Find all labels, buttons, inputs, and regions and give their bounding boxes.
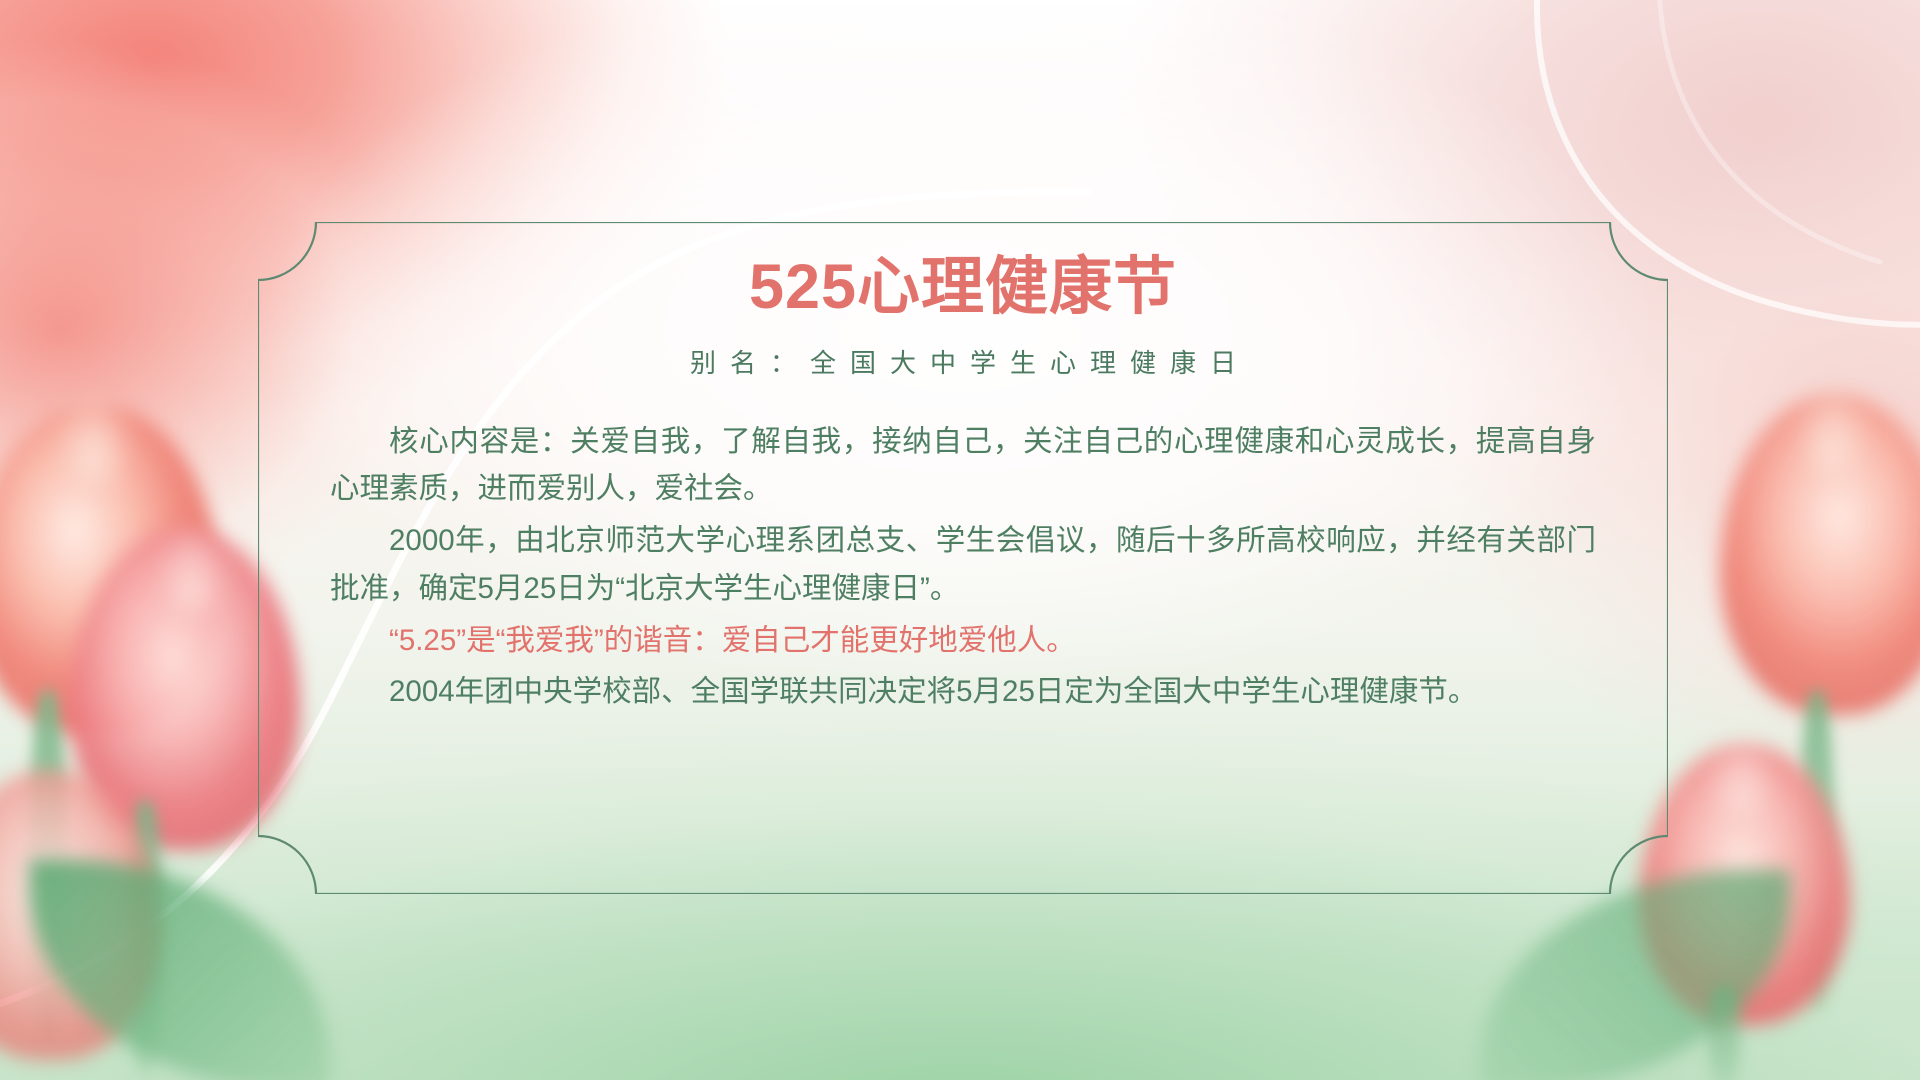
tulip-left-1-petal-notch (58, 395, 128, 485)
page-title: 525心理健康节 (330, 222, 1596, 323)
tulip-right-2 (1640, 745, 1850, 1035)
tulip-right-1 (1720, 395, 1920, 725)
page-subtitle: 别名：全国大中学生心理健康日 (330, 323, 1596, 380)
tulip-left-2-stem-shape (128, 800, 162, 1075)
white-arc-top-right-secondary (1659, 0, 1880, 262)
paragraph-established-2004: 2004年团中央学校部、全国学联共同决定将5月25日定为全国大中学生心理健康节。 (330, 668, 1596, 716)
card-content: 525心理健康节 别名：全国大中学生心理健康日 核心内容是：关爱自我，了解自我，… (258, 222, 1668, 894)
paragraph-homophone-525: “5.25”是“我爱我”的谐音：爱自己才能更好地爱他人。 (330, 617, 1596, 665)
tulip-left-3-bloom (0, 770, 160, 1060)
content-card: 525心理健康节 别名：全国大中学生心理健康日 核心内容是：关爱自我，了解自我，… (258, 222, 1668, 894)
tulip-right-2-stem (1700, 985, 1770, 1080)
tulip-right-2-petal-notch (1712, 741, 1772, 819)
tulip-left-1-bloom (0, 405, 220, 735)
poster-canvas: 525心理健康节 别名：全国大中学生心理健康日 核心内容是：关爱自我，了解自我，… (0, 0, 1920, 1080)
tulip-left-2-stem (120, 800, 190, 1080)
tulip-right-2-bloom (1640, 745, 1850, 1025)
tulip-left-1 (0, 405, 220, 745)
tulip-left-3 (0, 770, 160, 1070)
tulip-left-1-stem-shape (30, 690, 66, 1040)
tulip-right-1-stem-shape (1800, 690, 1834, 1010)
tulip-right-leaf-shape (1480, 870, 1790, 1080)
tulip-right-2-stem-shape (1708, 985, 1740, 1080)
tulip-left-2-petal-notch (160, 530, 224, 614)
body-copy: 核心内容是：关爱自我，了解自我，接纳自己，关注自己的心理健康和心灵成长，提高自身… (330, 380, 1596, 721)
tulip-right-leaf (1480, 870, 1810, 1080)
tulip-right-1-bloom (1720, 395, 1920, 715)
paragraph-core-content: 核心内容是：关爱自我，了解自我，接纳自己，关注自己的心理健康和心灵成长，提高自身… (330, 418, 1596, 514)
tulip-right-1-petal-notch (1800, 389, 1866, 475)
paragraph-origin-2000: 2000年，由北京师范大学心理系团总支、学生会倡议，随后十多所高校响应，并经有关… (330, 517, 1596, 613)
tulip-right-1-stem (1790, 690, 1860, 1020)
tulip-left-1-stem (20, 690, 90, 1050)
